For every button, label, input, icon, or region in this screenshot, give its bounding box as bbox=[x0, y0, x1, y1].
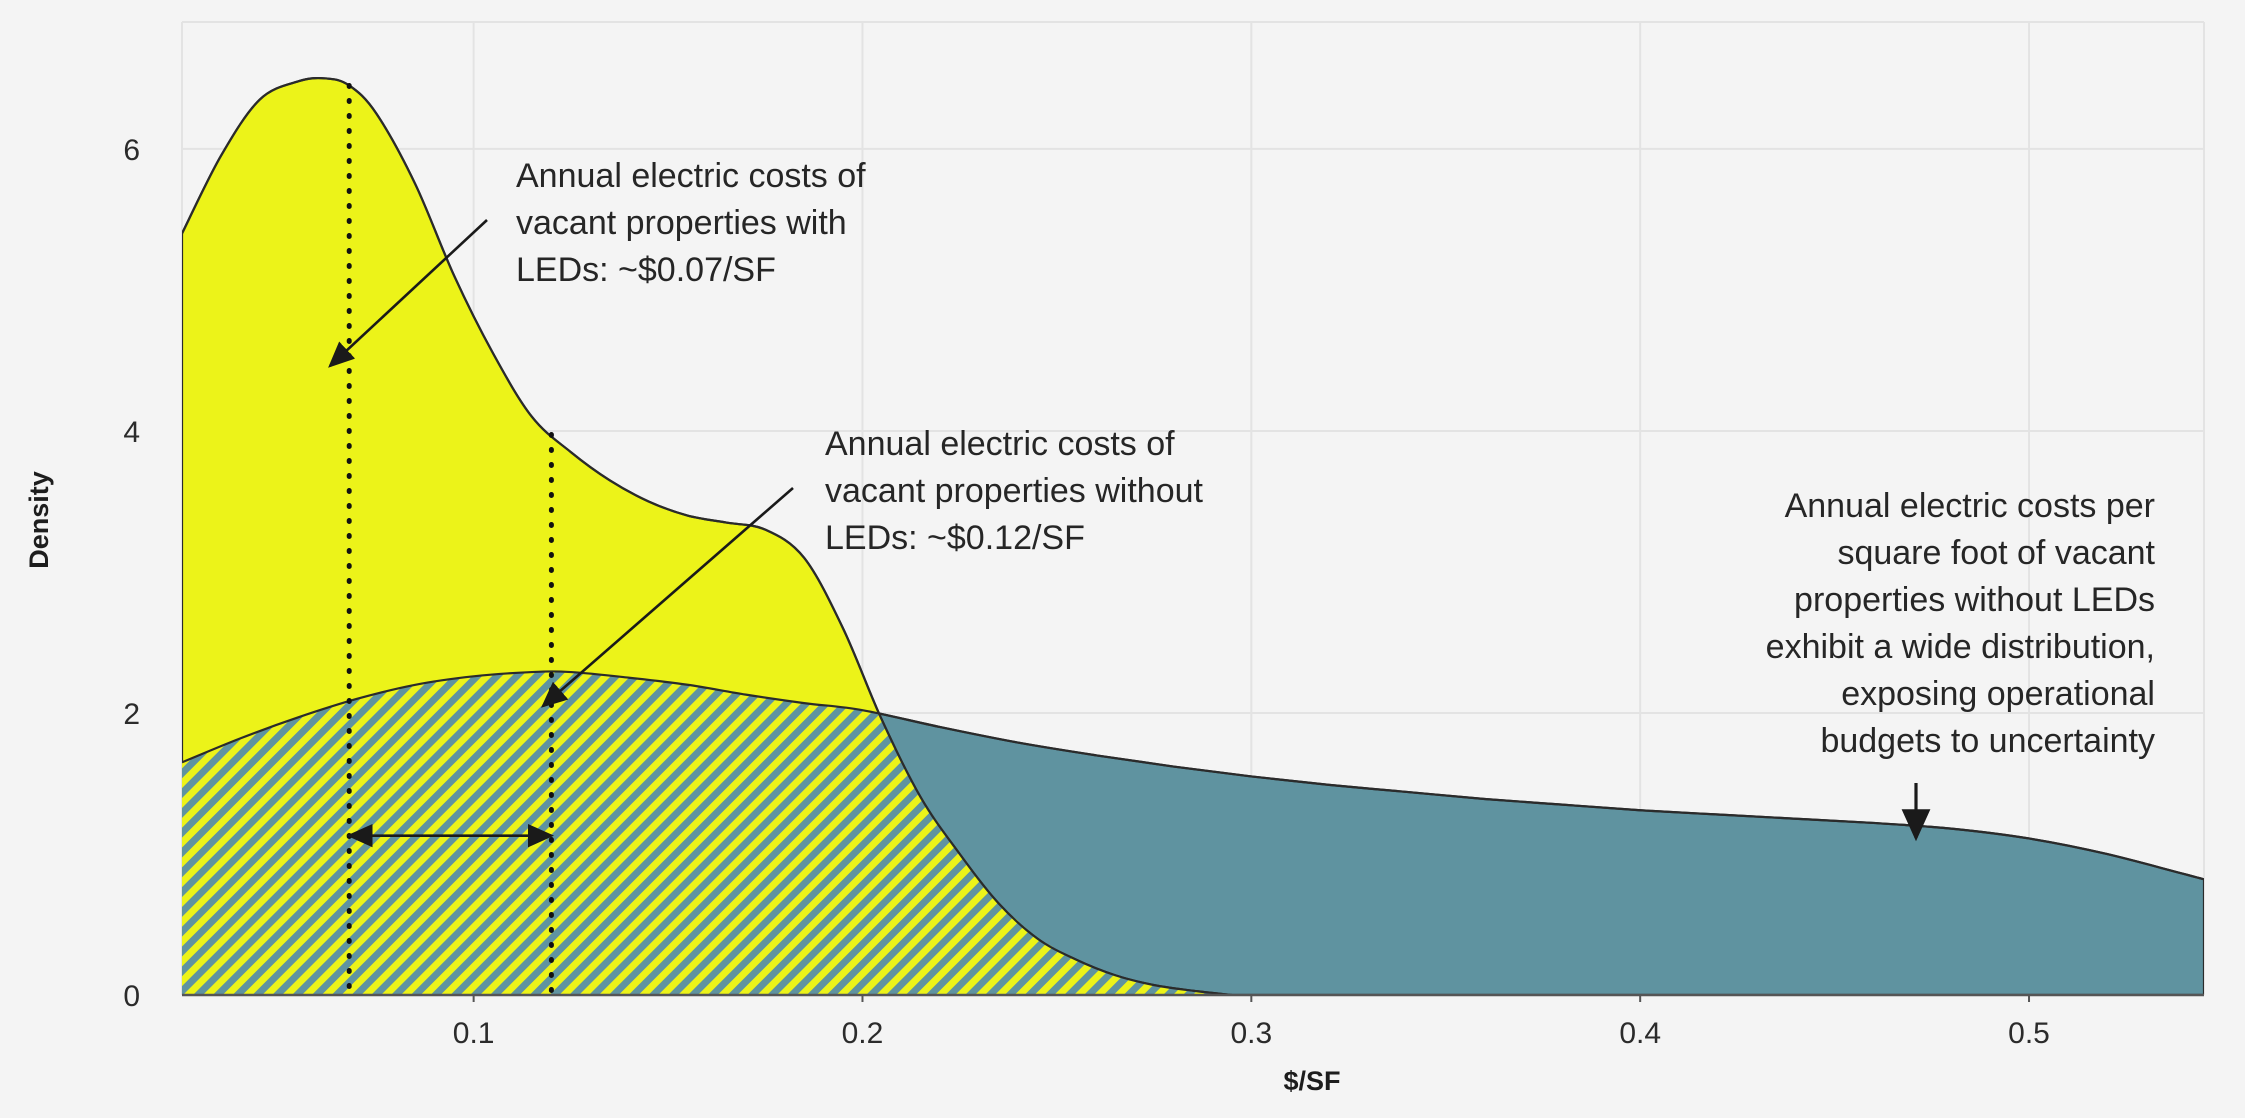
annotation-without-leds-line-1: Annual electric costs of bbox=[825, 425, 1175, 463]
annotation-with-leds-line-1: Annual electric costs of bbox=[516, 157, 866, 195]
x-tick-label: 0.1 bbox=[453, 1017, 495, 1050]
x-tick-label: 0.3 bbox=[1230, 1017, 1272, 1050]
annotation-with-leds-line-2: vacant properties with bbox=[516, 204, 847, 242]
annotation-wide-distribution-line-1: Annual electric costs per bbox=[1785, 487, 2155, 525]
chart-canvas: 0.10.20.30.40.5 0246 $/SF Density Annual… bbox=[0, 0, 2245, 1118]
annotation-wide-distribution-line-2: square foot of vacant bbox=[1837, 534, 2155, 572]
annotation-wide-distribution-line-6: budgets to uncertainty bbox=[1820, 722, 2155, 760]
y-axis-title: Density bbox=[24, 471, 54, 569]
annotation-wide-distribution-line-4: exhibit a wide distribution, bbox=[1766, 628, 2155, 666]
y-tick-label: 2 bbox=[123, 698, 140, 731]
x-tick-label: 0.5 bbox=[2008, 1017, 2050, 1050]
annotation-wide-distribution-line-5: exposing operational bbox=[1841, 675, 2155, 713]
density-chart: 0.10.20.30.40.5 0246 $/SF Density Annual… bbox=[0, 0, 2245, 1118]
annotation-without-leds-line-2: vacant properties without bbox=[825, 472, 1204, 510]
annotation-wide-distribution-line-3: properties without LEDs bbox=[1794, 581, 2155, 619]
x-tick-label: 0.4 bbox=[1619, 1017, 1661, 1050]
x-tick-label: 0.2 bbox=[842, 1017, 884, 1050]
y-tick-label: 6 bbox=[123, 134, 140, 167]
y-tick-label: 4 bbox=[123, 416, 140, 449]
annotation-without-leds-line-3: LEDs: ~$0.12/SF bbox=[825, 519, 1085, 557]
annotation-with-leds-line-3: LEDs: ~$0.07/SF bbox=[516, 251, 776, 289]
y-tick-label: 0 bbox=[123, 980, 140, 1013]
x-axis-title: $/SF bbox=[1283, 1066, 1340, 1096]
